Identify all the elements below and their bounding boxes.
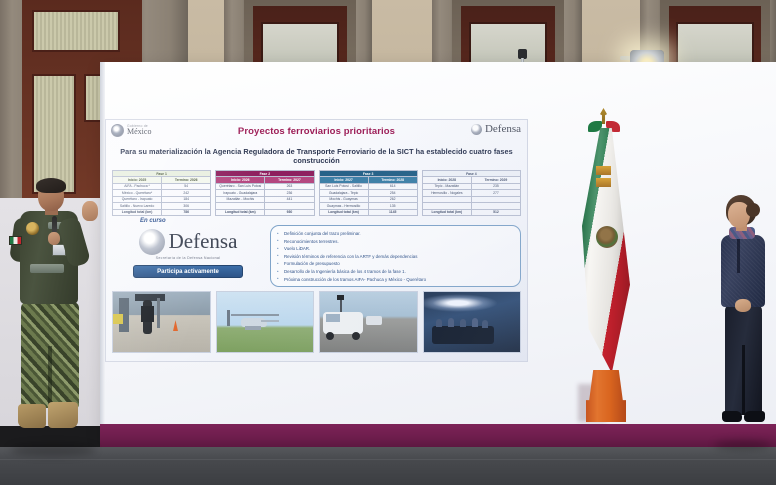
total-row: Longitud total (km)512 — [422, 209, 520, 215]
projected-slide[interactable]: Gobierno de México Proyectos ferroviario… — [105, 119, 528, 362]
flag-wooden-base — [586, 370, 626, 422]
officer-raised-hand — [82, 201, 98, 221]
speaker-clasped-hands — [735, 299, 751, 312]
officer-hair — [36, 178, 66, 193]
phase-table-3: Fase 3 Inicio: 2027 Termino: 2028 San Lu… — [319, 170, 418, 224]
slide-title: Proyectos ferroviarios prioritarios — [106, 126, 527, 137]
officer-unit-patch-icon — [26, 222, 39, 235]
officer-hand-holding-mic — [48, 232, 60, 245]
phase-table-1: Fase 1 Inicio: 2025 Termino: 2026 AIFA -… — [112, 170, 211, 224]
speaker-shoe-right — [744, 411, 765, 422]
officer-boot-right — [48, 402, 78, 428]
flag-tassel — [596, 178, 611, 187]
list-item: Formulación de presupuesto — [275, 260, 514, 268]
floor-seam — [0, 459, 776, 460]
defensa-name-label: Defensa — [485, 124, 521, 135]
list-item: Definición conjunta del trazo preliminar… — [275, 230, 514, 238]
list-item: Vuelo LiDAR. — [275, 245, 514, 253]
total-label: Longitud total (km) — [113, 209, 162, 215]
mexican-flag — [576, 108, 632, 408]
officer-flag-patch-icon — [9, 236, 22, 245]
stage-skirt — [100, 424, 776, 447]
participa-activamente-button[interactable]: Participa activamente — [133, 265, 243, 278]
total-value: 786 — [162, 209, 211, 215]
officer-vest-stripe — [30, 264, 64, 273]
phase-table-2: Fase 2 Inicio: 2026 Termino: 2027 Querét… — [215, 170, 314, 224]
military-officer — [4, 178, 100, 450]
total-label: Longitud total (km) — [319, 209, 368, 215]
photo-surveyor-road — [112, 291, 211, 353]
defensa-wordmark: Defensa — [112, 229, 264, 255]
status-note: En curso — [140, 218, 211, 224]
mexico-coat-of-arms-icon — [596, 226, 618, 248]
defensa-word-label: Defensa — [169, 232, 238, 252]
phase-table-4: Fase 4 Inicio: 2028 Termino: 2029 Tepic … — [422, 170, 521, 224]
speaker-jacket — [721, 235, 765, 307]
door-pane — [32, 10, 120, 52]
stage-floor — [0, 447, 776, 485]
total-label: Longitud total (km) — [422, 209, 471, 215]
list-item: Próxima construcción de los tramos AIFA-… — [275, 276, 514, 284]
defensa-seal-icon — [139, 229, 165, 255]
total-row: Longitud total (km)786 — [113, 209, 211, 215]
speaker-shoe-left — [722, 411, 742, 422]
jacket-texture — [721, 235, 765, 307]
door-pane — [32, 74, 76, 194]
defensa-subtitle: Secretaría de la Defensa Nacional — [112, 256, 264, 260]
photo-strip — [106, 287, 527, 359]
photo-helicopter-field — [216, 291, 315, 353]
total-label: Longitud total (km) — [216, 209, 265, 215]
defensa-seal-icon — [471, 124, 482, 135]
speaker-hair-bun — [746, 203, 760, 217]
presidential-speaker — [710, 195, 774, 445]
list-item: Revisión términos de referencia con la A… — [275, 253, 514, 261]
speaker-jacket-lapel — [737, 237, 740, 273]
flag-shading — [582, 128, 630, 373]
total-row: Longitud total (km)1145 — [319, 209, 417, 215]
list-item: Desarrollo de la Ingeniería básica de lo… — [275, 268, 514, 276]
photo-vehicle-highway — [319, 291, 418, 353]
defensa-brand-block: Defensa Secretaría de la Defensa Naciona… — [112, 225, 264, 287]
defensa-logo-small: Defensa — [471, 124, 521, 135]
flag-tassel — [596, 166, 611, 175]
photo-meeting-room — [423, 291, 522, 353]
phase-tables-row: Fase 1 Inicio: 2025 Termino: 2026 AIFA -… — [106, 165, 527, 224]
total-value: 512 — [471, 209, 520, 215]
bullets-panel: Definición conjunta del trazo preliminar… — [270, 225, 521, 287]
total-value: 930 — [265, 209, 314, 215]
conference-stage: Gobierno de México Proyectos ferroviario… — [0, 0, 776, 485]
slide-header: Gobierno de México Proyectos ferroviario… — [106, 120, 527, 146]
slide-subtitle: Para su materialización la Agencia Regul… — [106, 146, 527, 165]
speaker-trouser-split — [742, 345, 745, 415]
slide-middle-band: Defensa Secretaría de la Defensa Naciona… — [106, 224, 527, 287]
officer-leg-split — [48, 346, 52, 408]
total-row: Longitud total (km)930 — [216, 209, 314, 215]
officer-boot-left — [18, 404, 46, 428]
list-item: Reconocimientos terrestres. — [275, 238, 514, 246]
total-value: 1145 — [368, 209, 417, 215]
